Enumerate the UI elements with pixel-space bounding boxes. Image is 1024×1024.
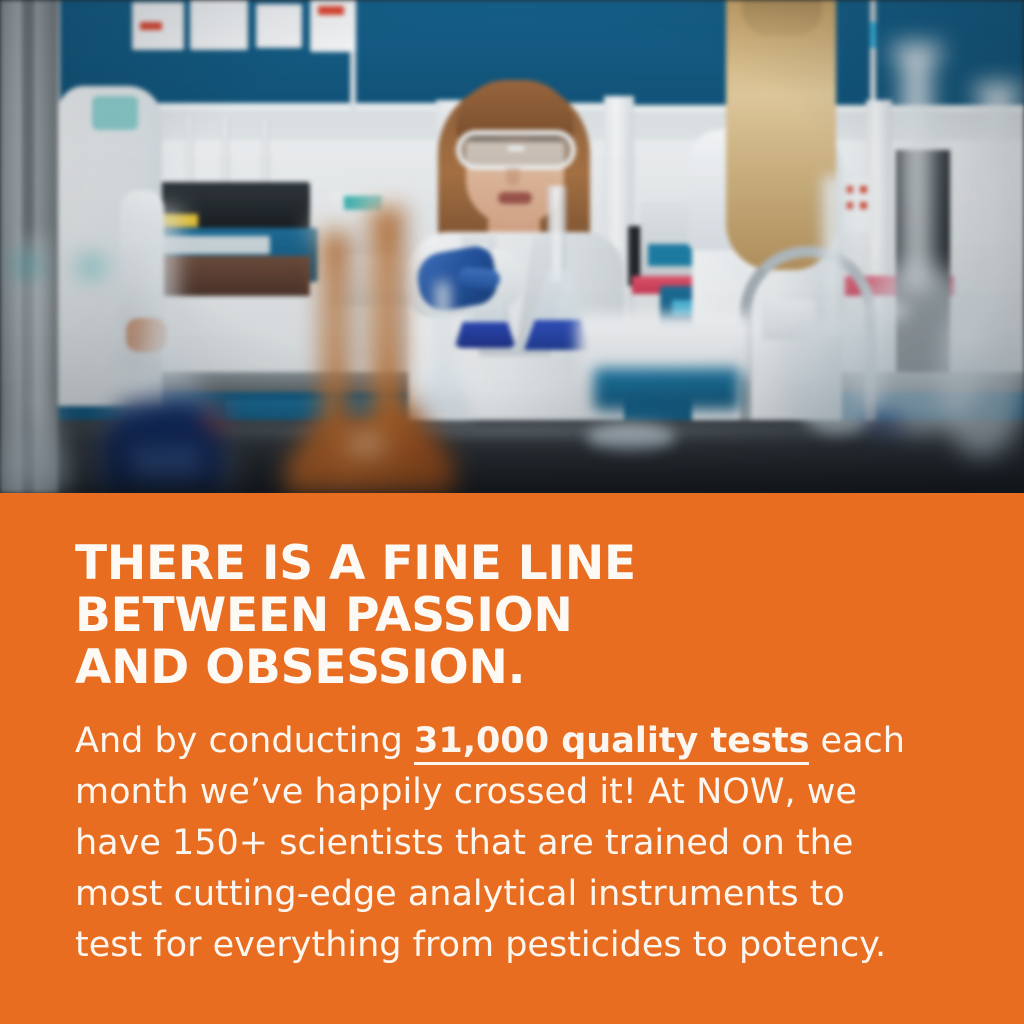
headline-line-1: THERE IS A FINE LINE [75,538,949,590]
poster: 500 [0,0,1024,1024]
headline-line-3: AND OBSESSION. [75,642,949,694]
body-line-1-before: And by conducting [75,721,414,761]
body-line-5: test for everything from pesticides to p… [75,920,949,971]
body-line-4: most cutting-edge analytical instruments… [75,869,949,920]
lab-photo: 500 [0,0,1024,493]
body-line-1: And by conducting 31,000 quality tests e… [75,716,949,767]
body-copy: And by conducting 31,000 quality tests e… [75,716,949,971]
page-title: THERE IS A FINE LINE BETWEEN PASSION AND… [75,538,949,694]
photo-vignette [0,0,1024,493]
body-line-1-after: each [809,721,905,761]
headline-line-2: BETWEEN PASSION [75,590,949,642]
stat-emphasis-quality-tests: 31,000 quality tests [414,721,809,765]
body-line-2: month we’ve happily crossed it! At NOW, … [75,767,949,818]
orange-text-panel: THERE IS A FINE LINE BETWEEN PASSION AND… [0,493,1024,1024]
body-line-3: have 150+ scientists that are trained on… [75,818,949,869]
